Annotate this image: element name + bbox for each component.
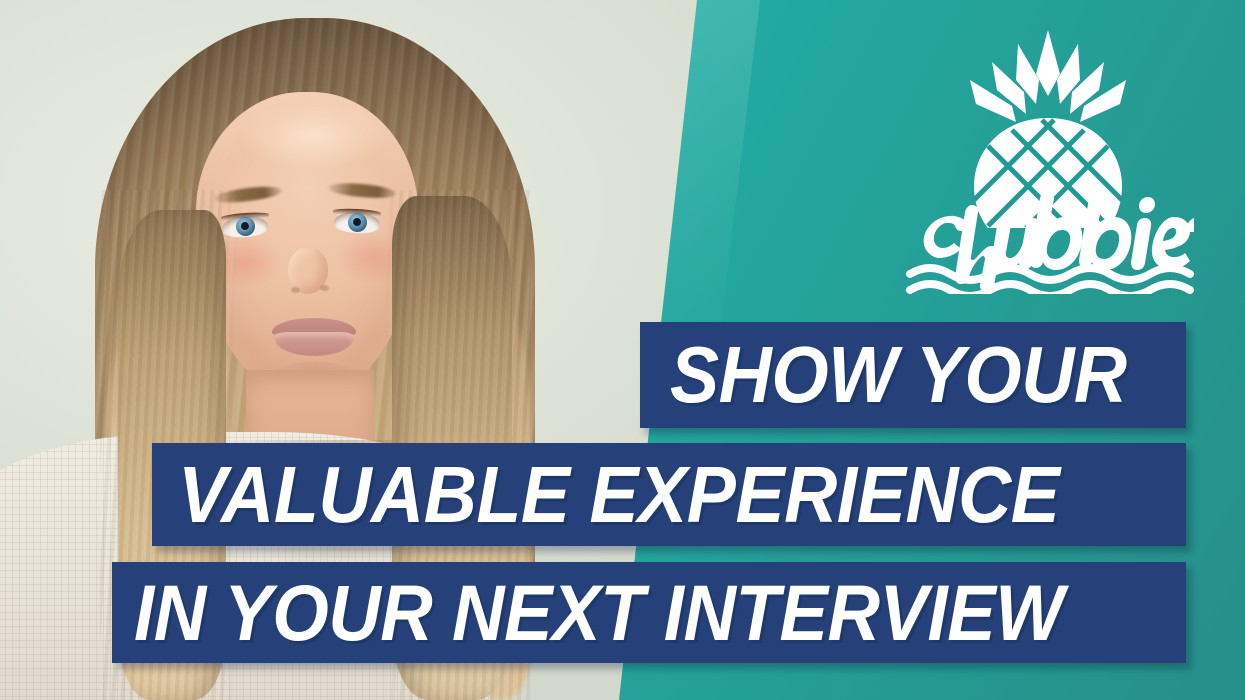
thumbnail-canvas: SHOW YOUR VALUABLE EXPERIENCE IN YOUR NE… [0,0,1245,700]
headline-band-3: IN YOUR NEXT INTERVIEW [112,562,1186,663]
chubbies-logo [902,22,1194,294]
headline-line-1: SHOW YOUR [670,335,1127,415]
wave-lines-icon [910,268,1190,294]
forehead-highlight [238,100,388,170]
headline-line-2: VALUABLE EXPERIENCE [178,455,1059,535]
headline-band-1: SHOW YOUR [640,322,1186,428]
headline-line-3: IN YOUR NEXT INTERVIEW [134,573,1063,652]
headline-band-2: VALUABLE EXPERIENCE [152,443,1186,546]
